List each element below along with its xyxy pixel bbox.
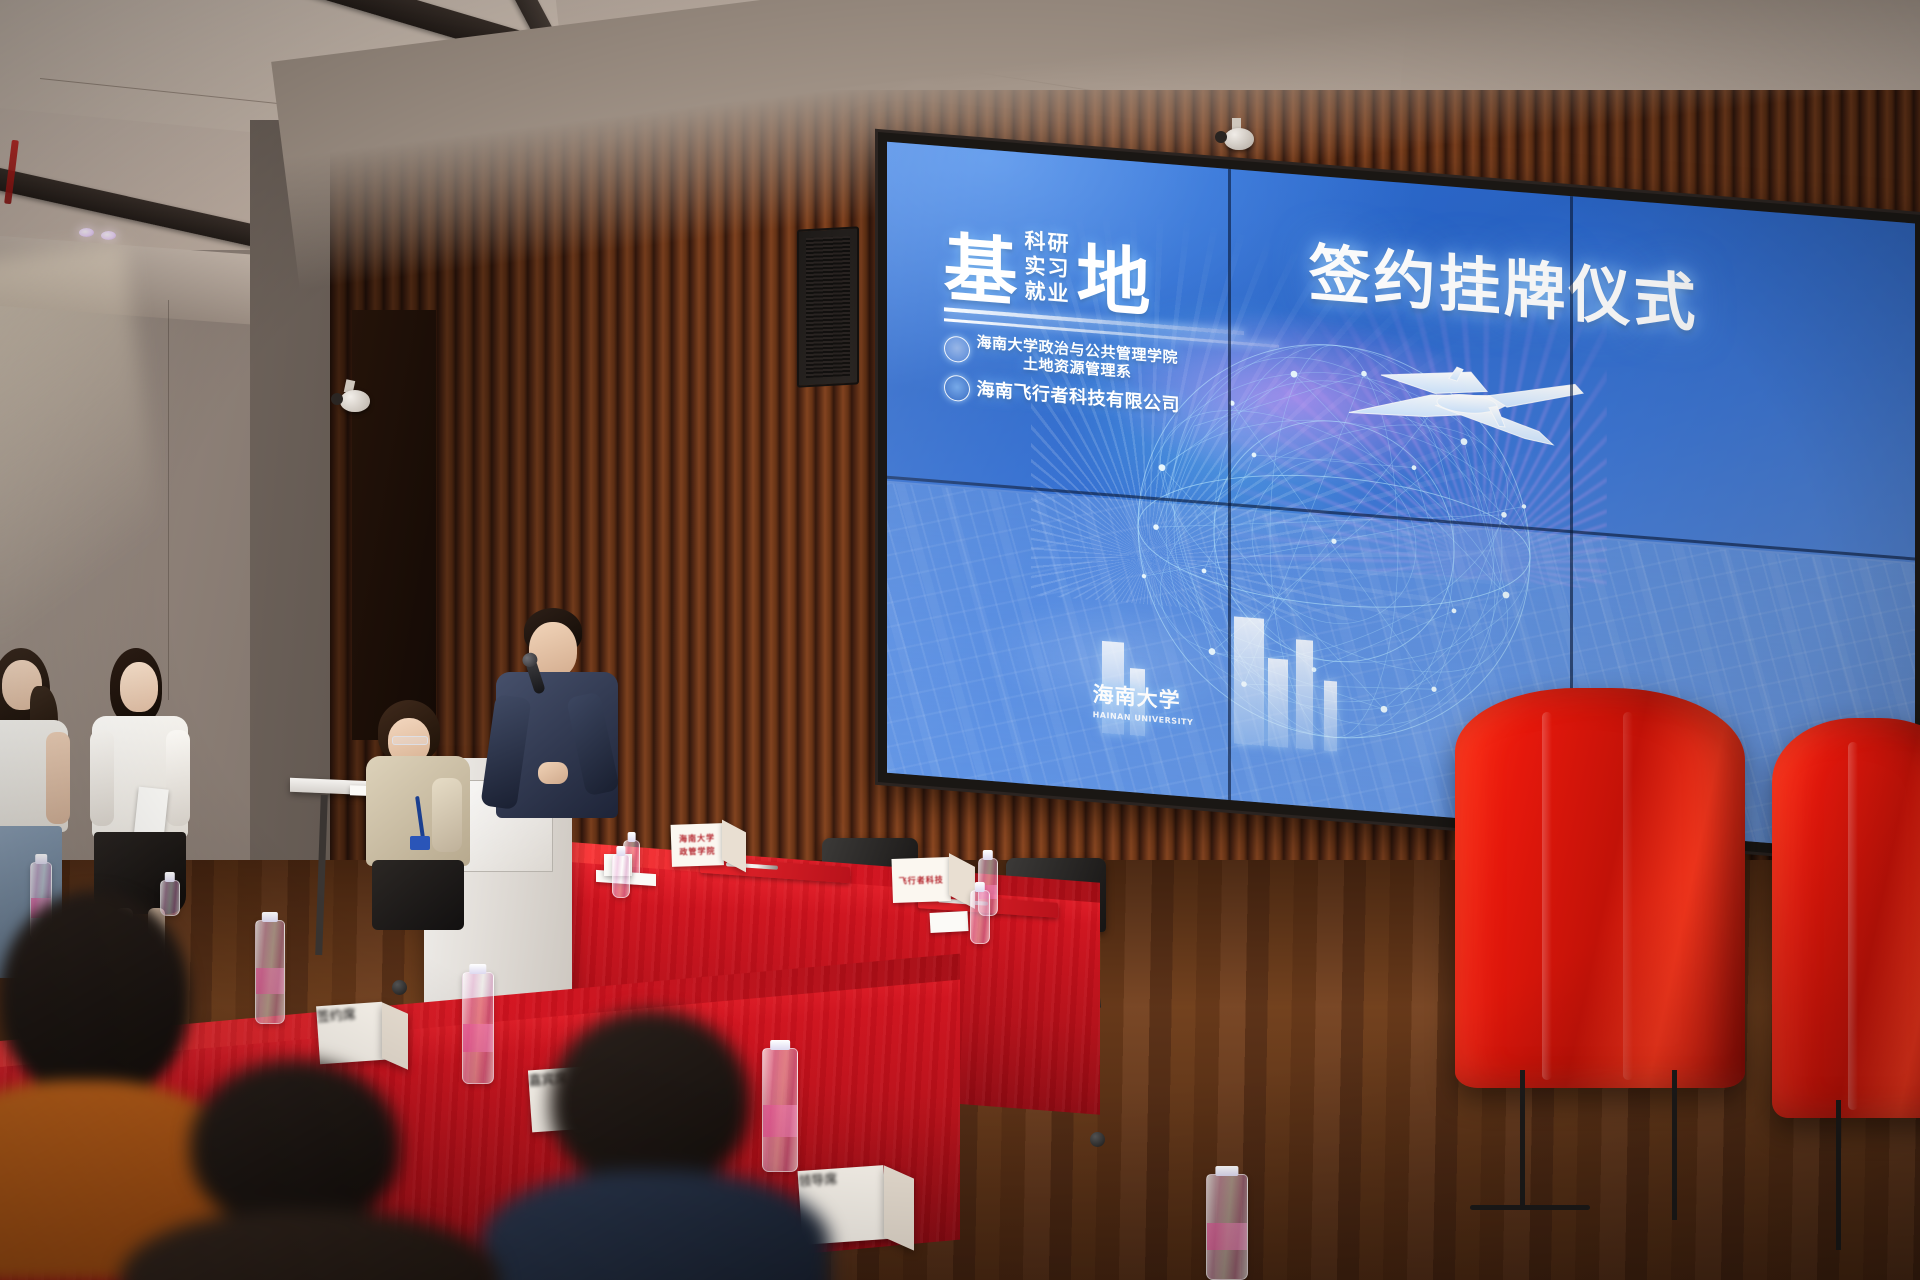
name-tent-card: 飞行者科技 xyxy=(891,857,951,903)
building-shape xyxy=(1234,616,1264,746)
bottle-cap xyxy=(262,912,278,922)
name-tent-line1: 海南大学 xyxy=(679,832,715,844)
ceiling-spotlight xyxy=(101,231,116,240)
led-video-wall: 基 科研 实习 就业 地 海南大学政治与公共管理学院 土地资 xyxy=(878,132,1920,865)
cloth-fold xyxy=(1623,712,1633,1080)
arm xyxy=(46,732,70,824)
building-shape xyxy=(1296,639,1313,750)
bottle-label xyxy=(256,968,284,995)
bottle-cap xyxy=(975,882,985,892)
eyeglasses-icon xyxy=(392,736,428,745)
keyword-research: 科研 xyxy=(1025,228,1071,256)
headline-keywords: 科研 实习 就业 xyxy=(1025,228,1071,312)
plaque-stand-leg xyxy=(1520,1070,1525,1210)
cloth-fold xyxy=(1542,712,1552,1080)
name-tent-text: 签约席 xyxy=(316,1002,383,1026)
sleeve-right xyxy=(166,730,190,826)
headline-char-di: 地 xyxy=(1077,245,1152,319)
shoulders xyxy=(120,1210,500,1280)
name-tent-line1: 飞行者科技 xyxy=(899,874,944,887)
screen-headline-block: 基 科研 实习 就业 地 海南大学政治与公共管理学院 土地资 xyxy=(944,222,1294,428)
security-camera-icon xyxy=(340,390,370,412)
keyword-employment: 就业 xyxy=(1025,279,1071,307)
recessed-dark-door xyxy=(352,310,436,740)
video-wall-screen: 基 科研 实习 就业 地 海南大学政治与公共管理学院 土地资 xyxy=(887,142,1915,855)
bottle-cap xyxy=(627,832,636,842)
draped-plaque xyxy=(1455,688,1745,1088)
drone-aircraft-graphic xyxy=(1339,335,1589,465)
bottle-cap xyxy=(35,854,47,864)
hand-gesture xyxy=(538,762,568,784)
head xyxy=(190,1060,400,1230)
name-tent-text: 海南大学 政管学院 xyxy=(671,823,724,867)
head xyxy=(550,1010,750,1190)
red-cloth xyxy=(1455,688,1745,1088)
water-bottle xyxy=(1206,1174,1248,1280)
company-logo-icon xyxy=(944,375,970,403)
cloth-fold xyxy=(1848,742,1858,1110)
head xyxy=(120,662,158,712)
chair-caster xyxy=(1090,1132,1105,1147)
chair-caster xyxy=(392,980,407,995)
bottle-cap xyxy=(983,850,993,860)
wall-panel-seam xyxy=(168,300,169,700)
university-seal-icon xyxy=(944,335,970,363)
name-tent-side xyxy=(884,1165,914,1250)
name-tent-line2: 政管学院 xyxy=(679,845,715,857)
plaque-stand-leg xyxy=(1672,1070,1677,1220)
person-speaker xyxy=(498,612,618,862)
security-camera-icon xyxy=(1224,128,1254,150)
plaque-stand-leg xyxy=(1836,1100,1841,1250)
screen-caption-left: 海南大学 HAINAN UNIVERSITY xyxy=(1093,678,1194,728)
red-cloth xyxy=(1772,718,1920,1118)
water-bottle xyxy=(970,890,990,944)
shoulders xyxy=(480,1170,830,1280)
wall-speaker xyxy=(797,226,859,387)
organization-university-text: 海南大学政治与公共管理学院 土地资源管理系 xyxy=(977,333,1179,386)
name-tent-card: 海南大学 政管学院 xyxy=(671,823,724,867)
headline-char-ji: 基 xyxy=(944,234,1019,308)
audience-head-foreground-3 xyxy=(120,1060,480,1280)
photograph-scene: 基 科研 实习 就业 地 海南大学政治与公共管理学院 土地资 xyxy=(0,0,1920,1280)
sleeve-left xyxy=(90,730,114,826)
bottle-label xyxy=(463,1024,493,1053)
bottle-cap xyxy=(1215,1166,1238,1176)
paper-sheet xyxy=(930,911,969,933)
name-tent-card: 签约席 xyxy=(316,1002,386,1064)
seated-legs xyxy=(372,860,464,930)
water-bottle xyxy=(612,854,630,898)
keyword-internship: 实习 xyxy=(1025,254,1071,282)
plaque-stand-foot xyxy=(1470,1205,1590,1210)
building-shape xyxy=(1324,680,1337,752)
badge xyxy=(410,836,430,850)
bottle-cap xyxy=(616,846,625,856)
arm-sleeve xyxy=(432,778,462,852)
bottle-cap xyxy=(165,872,175,882)
ceiling-spotlight xyxy=(79,228,94,237)
name-tent-text: 飞行者科技 xyxy=(891,857,951,903)
audience-head-foreground-2 xyxy=(500,1010,810,1280)
building-shape xyxy=(1268,658,1288,748)
bottle-label xyxy=(1207,1223,1247,1250)
draped-plaque xyxy=(1772,718,1920,1118)
video-wall-seam xyxy=(1228,169,1231,800)
person-seated-staff xyxy=(368,700,478,920)
name-tent-line1: 签约席 xyxy=(316,1007,356,1025)
bottle-cap xyxy=(469,964,486,974)
